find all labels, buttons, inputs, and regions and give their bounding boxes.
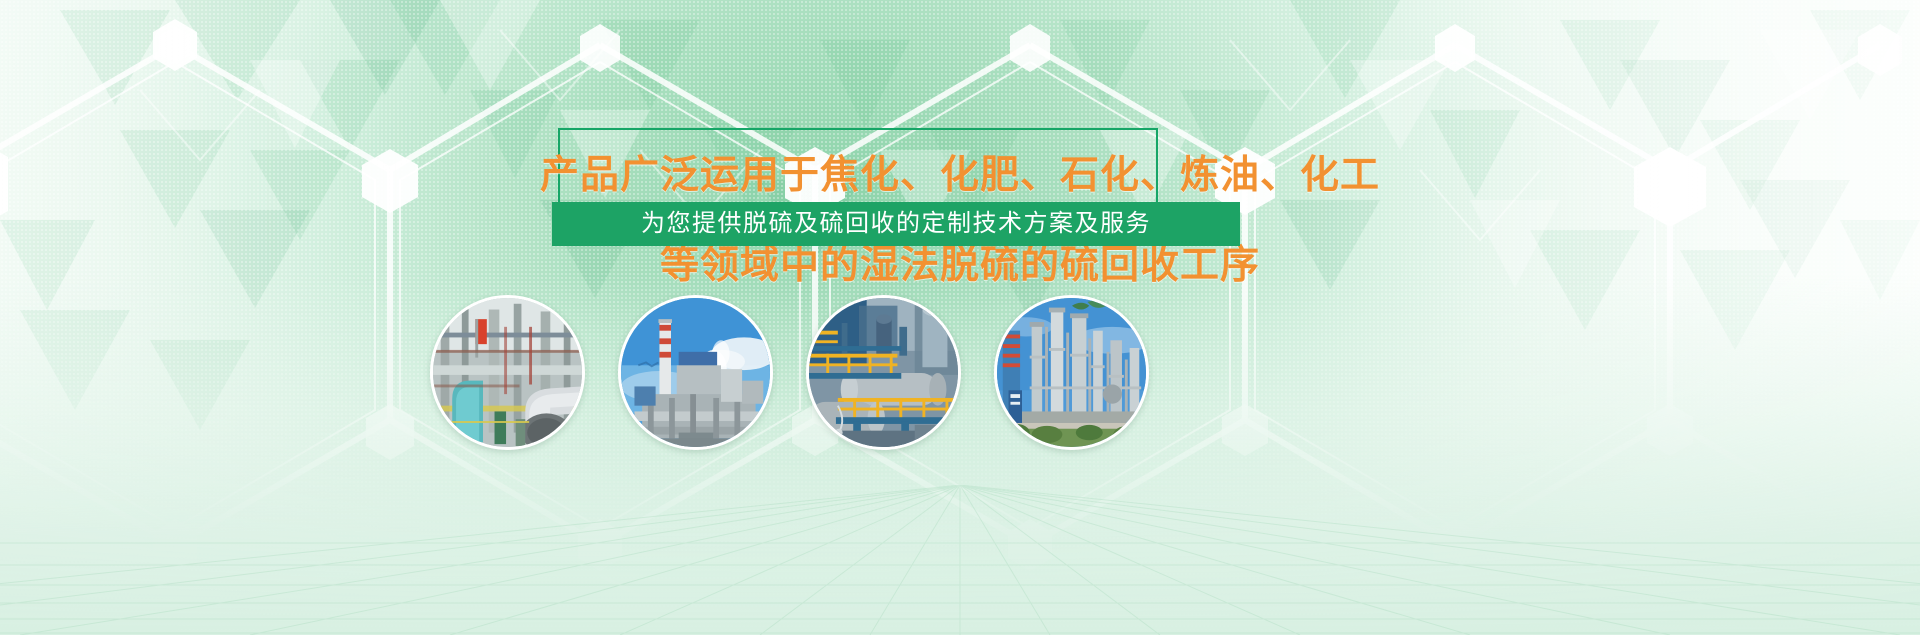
photo-3-art <box>809 298 958 447</box>
photo-refinery-columns <box>994 295 1149 450</box>
photo-1-art <box>433 298 582 447</box>
promo-banner: 产品广泛运用于焦化、化肥、石化、炼油、化工 等领域中的湿法脱硫的硫回收工序 为您… <box>0 0 1920 635</box>
photo-power-plant-stack <box>618 295 773 450</box>
photo-row <box>0 0 1920 635</box>
photo-pressure-vessel-platform <box>806 295 961 450</box>
photo-2-art <box>621 298 770 447</box>
photo-4-art <box>997 298 1146 447</box>
photo-desulfurization-pipe-rack <box>430 295 585 450</box>
